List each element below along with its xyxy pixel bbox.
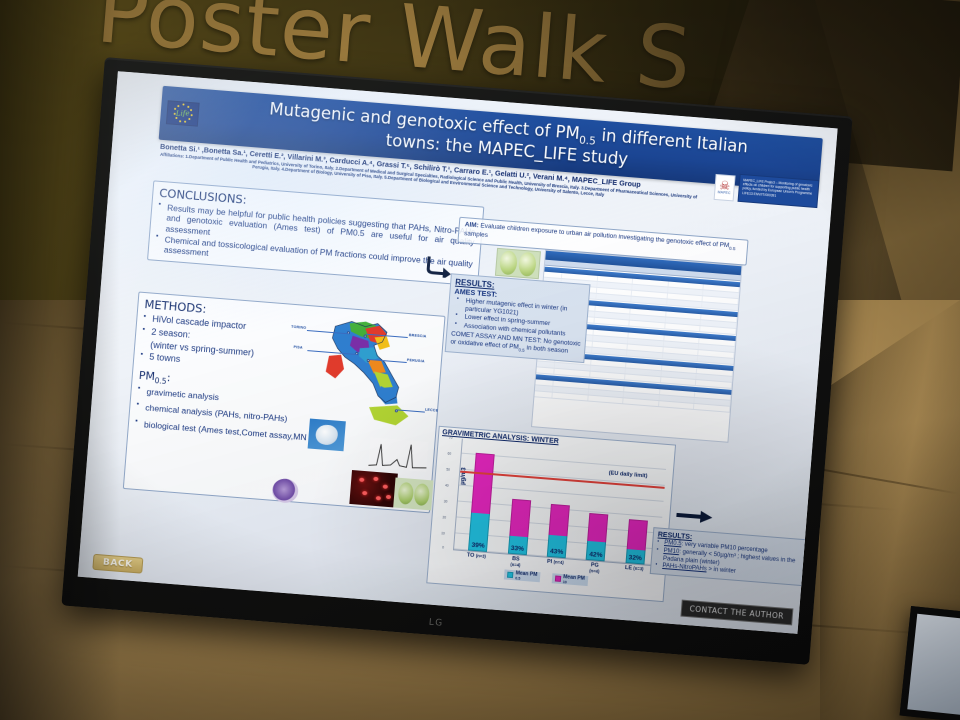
legend-label-pm05: Mean PM0.5 bbox=[515, 570, 537, 582]
bar-le: 32% bbox=[625, 519, 647, 564]
legend-item-pm10: Mean PM10 bbox=[552, 573, 588, 586]
x-tick-to: TO (n=3) bbox=[466, 552, 486, 565]
y-tick: 10 bbox=[441, 531, 445, 535]
results-ames-box: RESULTS: AMES TEST: Higher mutagenic eff… bbox=[445, 273, 591, 363]
y-tick: 70 bbox=[449, 436, 453, 440]
secondary-picture-frame bbox=[900, 606, 960, 720]
chromatogram-thumbnail bbox=[368, 437, 428, 472]
mapec-logo-caption: MAPEC bbox=[718, 190, 731, 195]
bar-data-label: 43% bbox=[550, 548, 564, 556]
bar-data-label: 39% bbox=[471, 542, 485, 550]
legend-label-pm10: Mean PM10 bbox=[563, 574, 585, 586]
lymphocyte-photo-thumbnail bbox=[271, 478, 299, 504]
chart-plot-area: µg/m3 70 60 50 40 30 20 10 0 bbox=[453, 439, 667, 567]
life-eu-logo-icon: Life bbox=[166, 100, 200, 126]
bar-to: 39% bbox=[468, 453, 495, 552]
aim-text-b: samples bbox=[464, 231, 488, 240]
y-tick: 50 bbox=[446, 468, 450, 472]
x-tick-pi: PI (n=4) bbox=[545, 559, 565, 572]
x-tick-bs: BS (n=4) bbox=[506, 556, 526, 569]
algae-photo-thumbnail bbox=[393, 477, 433, 510]
tv-screen[interactable]: Life Mutagenic and genotoxic effect of P… bbox=[78, 71, 838, 634]
chart-bars: 39% 33% 43% bbox=[454, 439, 667, 566]
pm05-heading-b: : bbox=[166, 371, 171, 384]
bar-pi: 43% bbox=[547, 504, 570, 558]
life-wordmark: Life bbox=[176, 109, 190, 117]
petri-dish-photo-thumbnail bbox=[495, 248, 541, 279]
contact-the-author-button[interactable]: CONTACT THE AUTHOR bbox=[680, 600, 793, 626]
room-scene: Poster Walk S LG Life bbox=[0, 0, 960, 720]
bar-data-label: 33% bbox=[511, 545, 525, 553]
y-tick: 60 bbox=[447, 452, 451, 456]
legend-item-pm05: Mean PM0.5 bbox=[504, 569, 540, 582]
aim-text-a: Evaluate children exposure to urban air … bbox=[478, 222, 729, 249]
y-tick: 30 bbox=[444, 499, 448, 503]
aim-label: AIM: bbox=[465, 221, 479, 229]
pm05-heading-a: PM bbox=[138, 369, 155, 383]
bar-data-label: 42% bbox=[589, 551, 603, 559]
bar-bs: 33% bbox=[507, 499, 530, 555]
term-pm10: PM10 bbox=[663, 548, 679, 555]
x-tick-le: LE (n=3) bbox=[624, 565, 644, 578]
bar-data-label: 32% bbox=[628, 554, 642, 562]
y-tick: 0 bbox=[442, 545, 444, 549]
tv-display[interactable]: LG Life Mutagenic a bbox=[61, 57, 852, 665]
hook-arrow-icon bbox=[425, 254, 453, 278]
comet-assay-photo-thumbnail bbox=[349, 470, 398, 508]
y-tick: 40 bbox=[445, 483, 449, 487]
back-button[interactable]: BACK bbox=[92, 554, 143, 574]
gravimetric-chart: GRAVIMETRIC ANALYSIS: WINTER µg/m3 70 60… bbox=[426, 426, 676, 602]
y-tick: 20 bbox=[442, 515, 446, 519]
bar-pg: 42% bbox=[586, 513, 609, 561]
tv-brand-label: LG bbox=[428, 618, 444, 629]
results-gravimetric-box: RESULTS: PM0.5: very variable PM10 perce… bbox=[650, 527, 821, 587]
poster-slide: Life Mutagenic and genotoxic effect of P… bbox=[78, 71, 838, 634]
term-pm05: PM0.5 bbox=[664, 540, 682, 547]
right-arrow-icon bbox=[676, 509, 713, 524]
mapec-project-note: MAPEC_LIFE Project – Monitoring of genot… bbox=[738, 173, 820, 207]
mapec-logo-icon: ☠ MAPEC bbox=[714, 173, 736, 201]
filter-photo-thumbnail bbox=[308, 419, 346, 452]
x-tick-pg: PG (n=4) bbox=[585, 562, 605, 575]
methods-box: METHODS: bbox=[123, 292, 446, 514]
pm05-heading-sub: 0.5 bbox=[154, 376, 167, 386]
aim-text-sub: 0.5 bbox=[729, 246, 736, 251]
eu-stars-icon: Life bbox=[172, 103, 194, 125]
chromatogram-icon bbox=[368, 437, 428, 472]
